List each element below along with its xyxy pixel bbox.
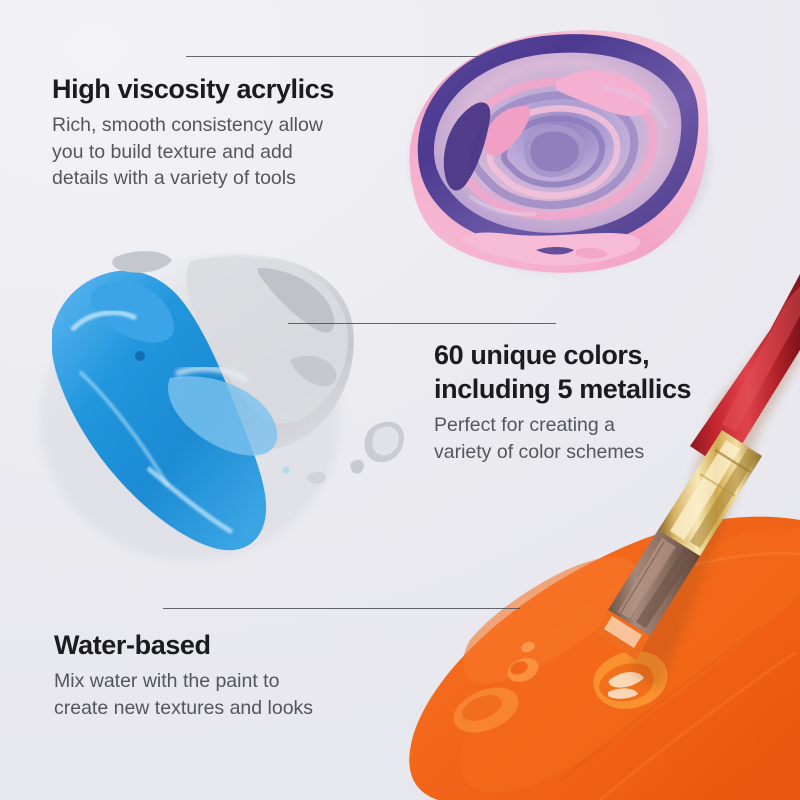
feature-block-water: Water-based Mix water with the paint to … [54, 628, 394, 721]
purple-pink-paint-swirl [409, 30, 710, 273]
feature-body-colors: Perfect for creating a variety of color … [434, 412, 764, 465]
body-line: create new textures and looks [54, 695, 394, 722]
heading-line: 60 unique colors, [434, 338, 764, 372]
body-line: variety of color schemes [434, 439, 764, 466]
divider-colors [288, 323, 556, 324]
feature-block-viscosity: High viscosity acrylics Rich, smooth con… [52, 72, 402, 192]
body-line: you to build texture and add [52, 139, 402, 166]
paint-brush [596, 274, 800, 690]
divider-water [163, 608, 520, 609]
divider-viscosity [186, 56, 482, 57]
heading-line: Water-based [54, 628, 394, 662]
feature-block-colors: 60 unique colors, including 5 metallics … [434, 338, 764, 465]
heading-line: High viscosity acrylics [52, 72, 402, 106]
body-line: Perfect for creating a [434, 412, 764, 439]
body-line: details with a variety of tools [52, 165, 402, 192]
body-line: Rich, smooth consistency allow [52, 112, 402, 139]
feature-body-viscosity: Rich, smooth consistency allow you to bu… [52, 112, 402, 192]
feature-heading-colors: 60 unique colors, including 5 metallics [434, 338, 764, 406]
heading-line: including 5 metallics [434, 372, 764, 406]
blue-silver-paint-smear [40, 251, 404, 560]
feature-body-water: Mix water with the paint to create new t… [54, 668, 394, 721]
product-feature-graphic: High viscosity acrylics Rich, smooth con… [0, 0, 800, 800]
feature-heading-water: Water-based [54, 628, 394, 662]
orange-paint-smear [409, 517, 800, 800]
feature-heading-viscosity: High viscosity acrylics [52, 72, 402, 106]
body-line: Mix water with the paint to [54, 668, 394, 695]
